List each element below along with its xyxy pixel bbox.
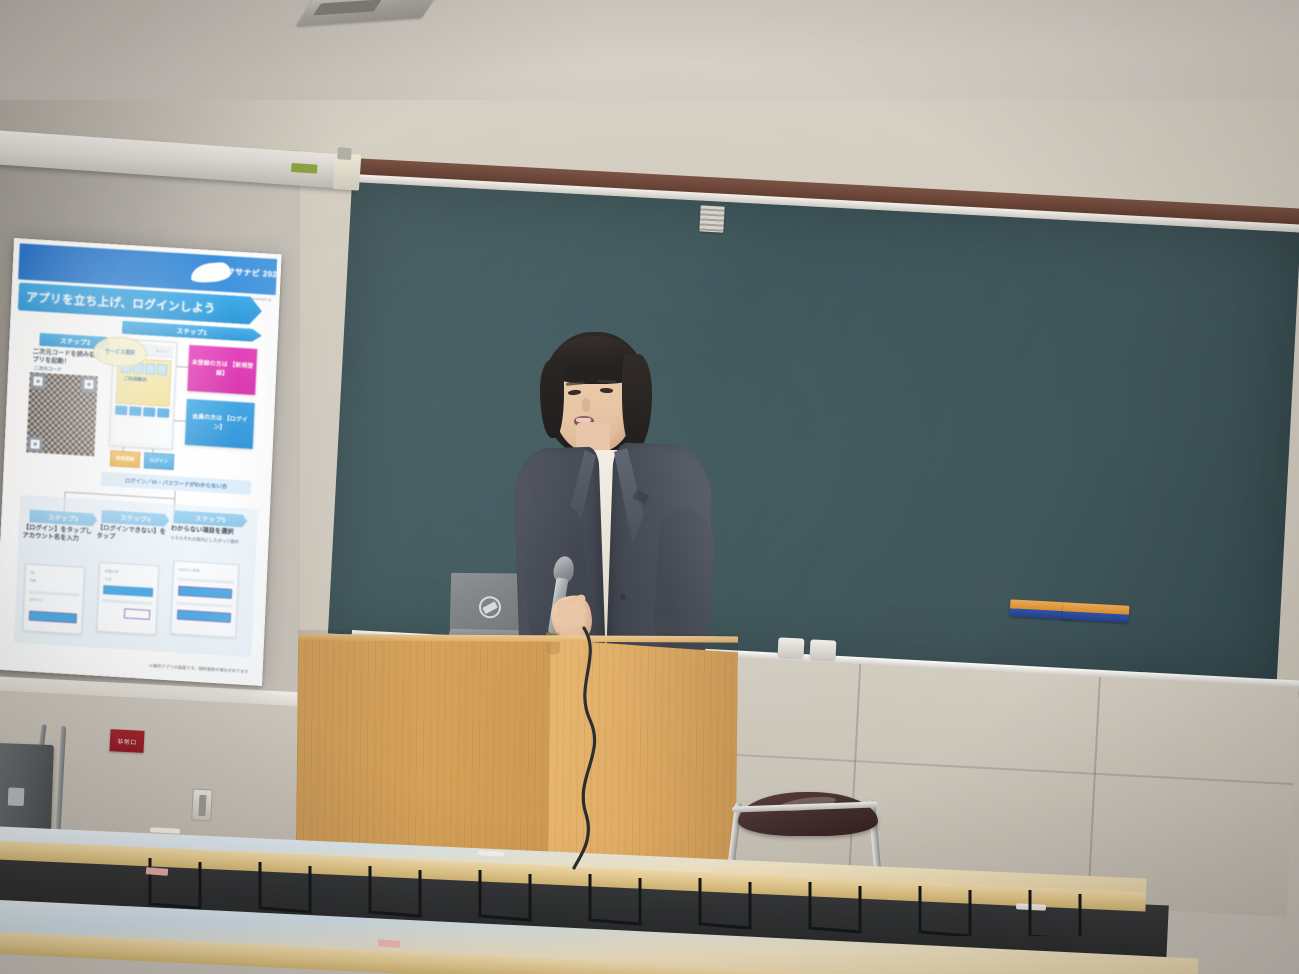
mock-body — [114, 417, 169, 444]
jacket-button — [620, 594, 626, 600]
thumb-line: ログイン — [30, 597, 44, 603]
wood-grain — [296, 636, 554, 861]
desk-pink-marker — [146, 867, 168, 876]
thumb-line: PW — [30, 579, 36, 583]
eye — [600, 388, 613, 393]
slide-logo-text: ササナビ 2020 — [226, 266, 281, 280]
wall-outlet-icon[interactable] — [191, 788, 213, 821]
thumb-button — [29, 611, 77, 624]
wall-fixture-icon[interactable] — [778, 637, 805, 657]
torso — [506, 448, 712, 654]
slide-title: アプリを立ち上げ、ログインしよう — [18, 288, 216, 316]
mock-header-right: メニュー — [155, 348, 169, 354]
thumb-title: ログイン方法 — [179, 567, 200, 573]
microphone-cable — [540, 628, 640, 868]
hair-side — [622, 354, 652, 450]
desk-pink-marker — [378, 939, 400, 948]
step4-thumbnail: お知らせ 入力 — [96, 562, 159, 636]
emergency-exit-label: 非常口 — [117, 736, 137, 746]
chair-backrest — [738, 792, 878, 836]
chair-latch-icon — [8, 787, 25, 806]
step3-thumbnail: ID PW ログイン — [22, 563, 85, 635]
podium — [296, 630, 738, 865]
step5-thumbnail: ログイン方法 — [170, 560, 239, 638]
nose — [582, 398, 590, 412]
thumb-line: 入力 — [105, 576, 112, 581]
thumb-line: ID — [31, 571, 35, 575]
login-button-mock: ログイン — [144, 452, 175, 470]
chalkboard-clip-icon[interactable] — [699, 205, 724, 232]
mock-button-row — [115, 405, 169, 417]
chalkboard-eraser[interactable] — [1063, 602, 1130, 622]
help-note-strip: ログイン／ID・パスワードがわからない方 — [101, 472, 251, 495]
thumb-button — [103, 585, 153, 597]
thumb-option — [178, 586, 232, 599]
member-login-box: 会員の方は 【ログイン】 — [185, 399, 255, 449]
emergency-exit-sign: 非常口 — [109, 729, 144, 753]
qr-code-icon — [26, 372, 98, 456]
housing-label-icon — [291, 163, 318, 174]
qr-finder — [81, 376, 97, 392]
projection-screen: ササナビ 2020 www.example.jp アプリを立ち上げ、ログインしよ… — [0, 238, 282, 686]
thumb-line: お知らせ — [105, 568, 119, 574]
mock-highlight-text: ご利用案内 — [124, 376, 147, 383]
slide-footnote: ※操作アプリの画面です。随時更新の場合があります — [148, 663, 248, 675]
lecture-hall-photo: 非常口 ササナビ 2020 www.example.jp アプリを立ち上げ、ログ… — [0, 0, 1299, 974]
thumb-field — [124, 608, 150, 620]
speaker — [498, 330, 718, 650]
housing-bracket — [337, 147, 352, 160]
register-button-mock: 新規登録 — [110, 450, 141, 468]
thumb-option — [177, 610, 231, 623]
wall-fixture-icon[interactable] — [810, 639, 837, 659]
brand-swoosh-icon — [190, 262, 231, 283]
qr-finder — [30, 373, 46, 389]
slide-content: ササナビ 2020 www.example.jp アプリを立ち上げ、ログインしよ… — [0, 238, 282, 686]
new-registration-box: 未登録の方は 【新規登録】 — [187, 345, 257, 395]
hair-side — [540, 360, 564, 438]
qr-finder — [27, 436, 43, 452]
podium-front-panel — [296, 636, 554, 861]
